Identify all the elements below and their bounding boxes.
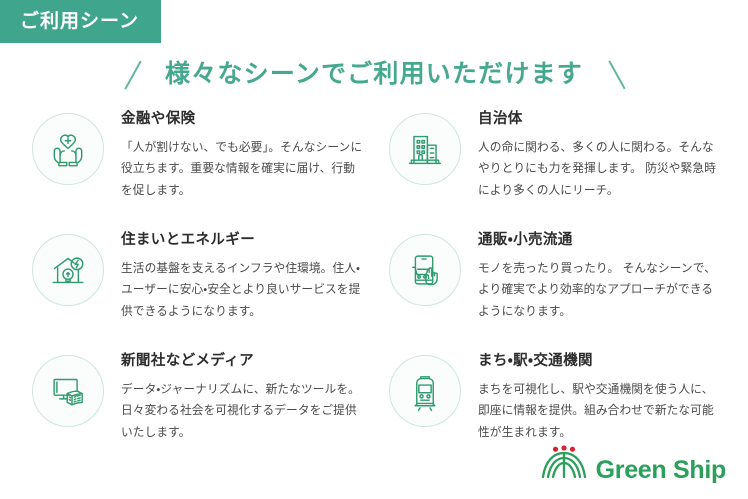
headline-container: 様々なシーンでご利用いただけます: [0, 52, 748, 96]
card-text: 「人が割けない、でも必要」。そんなシーンに役立ちます。重要な情報を確実に届け、行…: [121, 137, 365, 201]
office-building-icon: [389, 113, 461, 185]
card-body: 自治体 人の命に関わる、多くの人に関わる。そんなやりとりにも力を発揮します。 防…: [478, 110, 722, 201]
brand-logo: Green Ship: [539, 444, 726, 485]
smartphone-shopping-cart-hand-icon: [389, 234, 461, 306]
ribbon-label: ご利用シーン: [20, 12, 139, 31]
monitor-newspaper-icon: [32, 355, 104, 427]
green-ship-arch-mark-icon: [539, 444, 589, 485]
card-title: 通販・小売流通: [478, 233, 722, 249]
use-case-card-housing-energy: 住まいとエネルギー 生活の基盤を支えるインフラや住環境。住人・ユーザーに安心・安…: [32, 231, 365, 344]
use-case-card-finance-insurance: 金融や保険 「人が割けない、でも必要」。そんなシーンに役立ちます。重要な情報を確…: [32, 110, 365, 223]
train-front-icon: [389, 355, 461, 427]
page-title: 様々なシーンでご利用いただけます: [165, 62, 583, 87]
card-body: まち・駅・交通機関 まちを可視化し、駅や交通機関を使う人に、即座に情報を提供。組…: [478, 352, 722, 443]
use-case-card-news-media: 新聞社などメディア データ・ジャーナリズムに、新たなツールを。日々変わる社会を可…: [32, 352, 365, 465]
card-title: 新聞社などメディア: [121, 354, 365, 370]
card-body: 新聞社などメディア データ・ジャーナリズムに、新たなツールを。日々変わる社会を可…: [121, 352, 365, 443]
section-ribbon-tag: ご利用シーン: [0, 0, 161, 43]
house-lightbulb-energy-icon: [32, 234, 104, 306]
card-text: 生活の基盤を支えるインフラや住環境。住人・ユーザーに安心・安全とより良いサービス…: [121, 258, 365, 322]
use-case-card-ecommerce-retail: 通販・小売流通 モノを売ったり買ったり。 そんなシーンで、より確実でより効率的な…: [389, 231, 722, 344]
card-title: 住まいとエネルギー: [121, 233, 365, 249]
card-text: モノを売ったり買ったり。 そんなシーンで、より確実でより効率的なアプローチができ…: [478, 258, 722, 322]
card-title: 自治体: [478, 112, 722, 128]
slash-left-icon: [117, 55, 147, 93]
card-text: データ・ジャーナリズムに、新たなツールを。日々変わる社会を可視化するデータをご提…: [121, 379, 365, 443]
use-case-grid: 金融や保険 「人が割けない、でも必要」。そんなシーンに役立ちます。重要な情報を確…: [32, 110, 722, 465]
card-title: まち・駅・交通機関: [478, 354, 722, 370]
card-text: まちを可視化し、駅や交通機関を使う人に、即座に情報を提供。組み合わせで新たな可能…: [478, 379, 722, 443]
card-body: 金融や保険 「人が割けない、でも必要」。そんなシーンに役立ちます。重要な情報を確…: [121, 110, 365, 201]
card-title: 金融や保険: [121, 112, 365, 128]
card-body: 通販・小売流通 モノを売ったり買ったり。 そんなシーンで、より確実でより効率的な…: [478, 231, 722, 322]
logo-text: Green Ship: [596, 458, 726, 485]
use-case-card-local-government: 自治体 人の命に関わる、多くの人に関わる。そんなやりとりにも力を発揮します。 防…: [389, 110, 722, 223]
slash-right-icon: [601, 55, 631, 93]
card-body: 住まいとエネルギー 生活の基盤を支えるインフラや住環境。住人・ユーザーに安心・安…: [121, 231, 365, 322]
hands-heart-cross-icon: [32, 113, 104, 185]
card-text: 人の命に関わる、多くの人に関わる。そんなやりとりにも力を発揮します。 防災や緊急…: [478, 137, 722, 201]
